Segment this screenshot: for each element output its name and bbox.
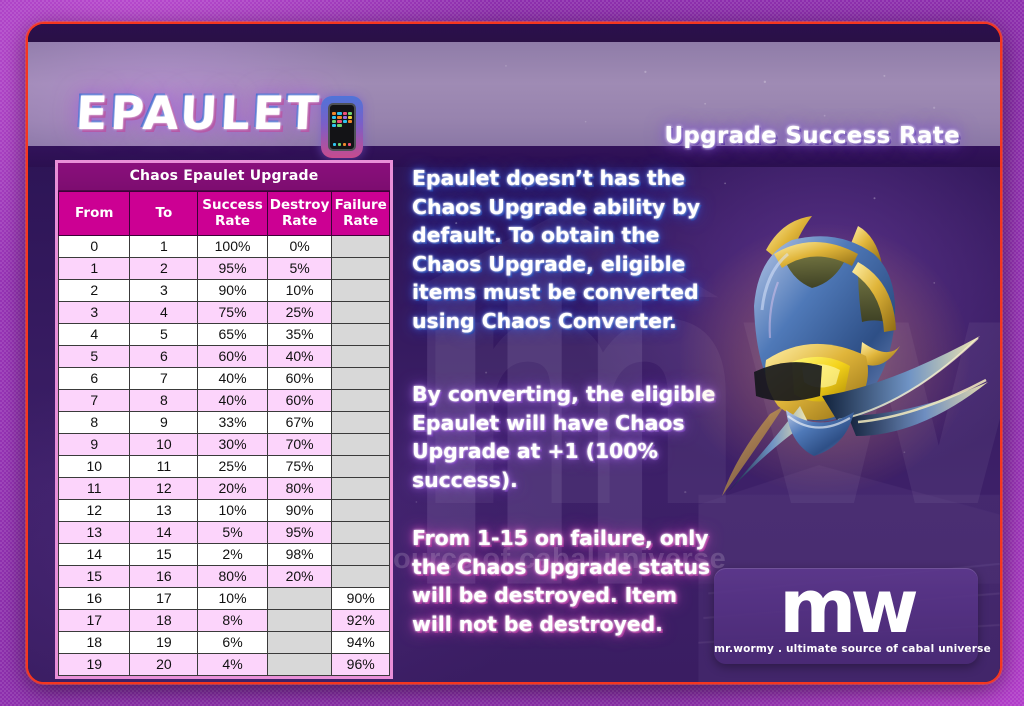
cell-destroy: 0% bbox=[267, 236, 332, 258]
cell-failure: 90% bbox=[332, 588, 390, 610]
cell-from: 11 bbox=[59, 478, 130, 500]
phone-screen bbox=[328, 103, 356, 151]
cell-success: 25% bbox=[198, 456, 267, 478]
description-paragraph-3: From 1-15 on failure, only the Chaos Upg… bbox=[412, 524, 722, 638]
cell-destroy: 60% bbox=[267, 368, 332, 390]
table-column-header-failure-rate: FailureRate bbox=[332, 192, 390, 236]
cell-success: 40% bbox=[198, 368, 267, 390]
cell-destroy: 98% bbox=[267, 544, 332, 566]
cell-to: 13 bbox=[130, 500, 198, 522]
cell-failure bbox=[332, 566, 390, 588]
cell-to: 6 bbox=[130, 346, 198, 368]
cell-to: 15 bbox=[130, 544, 198, 566]
cell-destroy bbox=[267, 654, 332, 676]
cell-destroy bbox=[267, 610, 332, 632]
cell-destroy: 80% bbox=[267, 478, 332, 500]
cell-success: 33% bbox=[198, 412, 267, 434]
table-row: 13145%95% bbox=[59, 522, 390, 544]
cell-failure bbox=[332, 434, 390, 456]
cell-to: 7 bbox=[130, 368, 198, 390]
cell-failure bbox=[332, 236, 390, 258]
cell-success: 6% bbox=[198, 632, 267, 654]
cell-success: 5% bbox=[198, 522, 267, 544]
cell-failure bbox=[332, 302, 390, 324]
table-row: 5660%40% bbox=[59, 346, 390, 368]
cell-failure: 96% bbox=[332, 654, 390, 676]
brand-mark: mw bbox=[714, 570, 978, 644]
cell-from: 1 bbox=[59, 258, 130, 280]
cell-failure bbox=[332, 280, 390, 302]
table-row: 1295%5% bbox=[59, 258, 390, 280]
table-title: Chaos Epaulet Upgrade bbox=[58, 163, 390, 191]
table-row: 121310%90% bbox=[59, 500, 390, 522]
cell-success: 65% bbox=[198, 324, 267, 346]
table-row: 6740%60% bbox=[59, 368, 390, 390]
cell-destroy: 67% bbox=[267, 412, 332, 434]
screenshot-root: mw mr.wormy . ultimate source of cabal u… bbox=[0, 0, 1024, 706]
cell-from: 13 bbox=[59, 522, 130, 544]
cell-success: 90% bbox=[198, 280, 267, 302]
table-column-header-from: From bbox=[59, 192, 130, 236]
cell-from: 7 bbox=[59, 390, 130, 412]
cell-to: 19 bbox=[130, 632, 198, 654]
phone-dock bbox=[333, 143, 351, 146]
cell-destroy: 90% bbox=[267, 500, 332, 522]
cell-destroy: 95% bbox=[267, 522, 332, 544]
cell-destroy bbox=[267, 588, 332, 610]
table-column-header-success-rate: SuccessRate bbox=[198, 192, 267, 236]
cell-to: 18 bbox=[130, 610, 198, 632]
cell-from: 18 bbox=[59, 632, 130, 654]
cell-to: 2 bbox=[130, 258, 198, 280]
cell-from: 8 bbox=[59, 412, 130, 434]
table-row: 17188%92% bbox=[59, 610, 390, 632]
cell-destroy: 60% bbox=[267, 390, 332, 412]
cell-to: 12 bbox=[130, 478, 198, 500]
table-column-header-destroy-rate: DestroyRate bbox=[267, 192, 332, 236]
table-row: 111220%80% bbox=[59, 478, 390, 500]
description-paragraph-2: By converting, the eligible Epaulet will… bbox=[412, 380, 722, 494]
cell-from: 6 bbox=[59, 368, 130, 390]
cell-failure bbox=[332, 390, 390, 412]
cell-destroy: 35% bbox=[267, 324, 332, 346]
brand-tagline: mr.wormy . ultimate source of cabal univ… bbox=[714, 643, 978, 655]
table-row: 91030%70% bbox=[59, 434, 390, 456]
table-header-row: FromToSuccessRateDestroyRateFailureRate bbox=[59, 192, 390, 236]
cell-to: 9 bbox=[130, 412, 198, 434]
cell-failure: 92% bbox=[332, 610, 390, 632]
upgrade-rate-table-container: Chaos Epaulet Upgrade FromToSuccessRateD… bbox=[55, 160, 393, 679]
cell-failure bbox=[332, 478, 390, 500]
description-paragraph-1: Epaulet doesn’t has the Chaos Upgrade ab… bbox=[412, 164, 722, 335]
table-row: 151680%20% bbox=[59, 566, 390, 588]
cell-from: 17 bbox=[59, 610, 130, 632]
cell-success: 30% bbox=[198, 434, 267, 456]
table-row: 01100%0% bbox=[59, 236, 390, 258]
cell-from: 5 bbox=[59, 346, 130, 368]
cell-from: 12 bbox=[59, 500, 130, 522]
table-row: 4565%35% bbox=[59, 324, 390, 346]
cell-from: 2 bbox=[59, 280, 130, 302]
cell-failure bbox=[332, 500, 390, 522]
table-column-header-to: To bbox=[130, 192, 198, 236]
cell-destroy: 70% bbox=[267, 434, 332, 456]
cell-from: 15 bbox=[59, 566, 130, 588]
cell-success: 100% bbox=[198, 236, 267, 258]
cell-success: 4% bbox=[198, 654, 267, 676]
cell-success: 60% bbox=[198, 346, 267, 368]
upgrade-rate-table: Chaos Epaulet Upgrade FromToSuccessRateD… bbox=[58, 163, 390, 676]
cell-to: 8 bbox=[130, 390, 198, 412]
info-card: mw mr.wormy . ultimate source of cabal u… bbox=[26, 22, 1002, 684]
cell-from: 19 bbox=[59, 654, 130, 676]
cell-to: 3 bbox=[130, 280, 198, 302]
table-row: 7840%60% bbox=[59, 390, 390, 412]
table-row: 101125%75% bbox=[59, 456, 390, 478]
table-row: 14152%98% bbox=[59, 544, 390, 566]
cell-to: 11 bbox=[130, 456, 198, 478]
brand-logo-box: mw mr.wormy . ultimate source of cabal u… bbox=[714, 568, 978, 664]
cell-failure bbox=[332, 544, 390, 566]
table-row: 2390%10% bbox=[59, 280, 390, 302]
cell-success: 10% bbox=[198, 500, 267, 522]
cell-success: 8% bbox=[198, 610, 267, 632]
table-row: 19204%96% bbox=[59, 654, 390, 676]
cell-failure bbox=[332, 522, 390, 544]
cell-failure bbox=[332, 258, 390, 280]
cell-success: 95% bbox=[198, 258, 267, 280]
table-row: 18196%94% bbox=[59, 632, 390, 654]
cell-from: 10 bbox=[59, 456, 130, 478]
cell-to: 14 bbox=[130, 522, 198, 544]
table-head: FromToSuccessRateDestroyRateFailureRate bbox=[59, 192, 390, 236]
cell-failure bbox=[332, 412, 390, 434]
cell-destroy: 20% bbox=[267, 566, 332, 588]
cell-failure bbox=[332, 324, 390, 346]
cell-from: 0 bbox=[59, 236, 130, 258]
header-subtitle: Upgrade Success Rate bbox=[664, 123, 960, 149]
mobile-phone-icon bbox=[321, 96, 363, 158]
cell-to: 16 bbox=[130, 566, 198, 588]
cell-to: 1 bbox=[130, 236, 198, 258]
cell-destroy: 75% bbox=[267, 456, 332, 478]
header-top-strip bbox=[28, 24, 1000, 42]
cell-to: 17 bbox=[130, 588, 198, 610]
cell-success: 10% bbox=[198, 588, 267, 610]
cell-failure bbox=[332, 346, 390, 368]
table-body: 01100%0%1295%5%2390%10%3475%25%4565%35%5… bbox=[59, 236, 390, 676]
cell-success: 40% bbox=[198, 390, 267, 412]
cell-destroy: 25% bbox=[267, 302, 332, 324]
cell-destroy bbox=[267, 632, 332, 654]
page-title: EPAULET bbox=[75, 88, 323, 138]
cell-destroy: 10% bbox=[267, 280, 332, 302]
cell-from: 16 bbox=[59, 588, 130, 610]
cell-to: 4 bbox=[130, 302, 198, 324]
cell-to: 5 bbox=[130, 324, 198, 346]
table-row: 8933%67% bbox=[59, 412, 390, 434]
cell-destroy: 40% bbox=[267, 346, 332, 368]
table-row: 3475%25% bbox=[59, 302, 390, 324]
cell-to: 10 bbox=[130, 434, 198, 456]
cell-failure bbox=[332, 368, 390, 390]
table-row: 161710%90% bbox=[59, 588, 390, 610]
cell-from: 4 bbox=[59, 324, 130, 346]
cell-from: 9 bbox=[59, 434, 130, 456]
cell-failure bbox=[332, 456, 390, 478]
cell-to: 20 bbox=[130, 654, 198, 676]
cell-failure: 94% bbox=[332, 632, 390, 654]
cell-from: 14 bbox=[59, 544, 130, 566]
cell-destroy: 5% bbox=[267, 258, 332, 280]
cell-success: 80% bbox=[198, 566, 267, 588]
cell-success: 2% bbox=[198, 544, 267, 566]
cell-from: 3 bbox=[59, 302, 130, 324]
cell-success: 75% bbox=[198, 302, 267, 324]
cell-success: 20% bbox=[198, 478, 267, 500]
phone-app-grid bbox=[332, 112, 352, 127]
